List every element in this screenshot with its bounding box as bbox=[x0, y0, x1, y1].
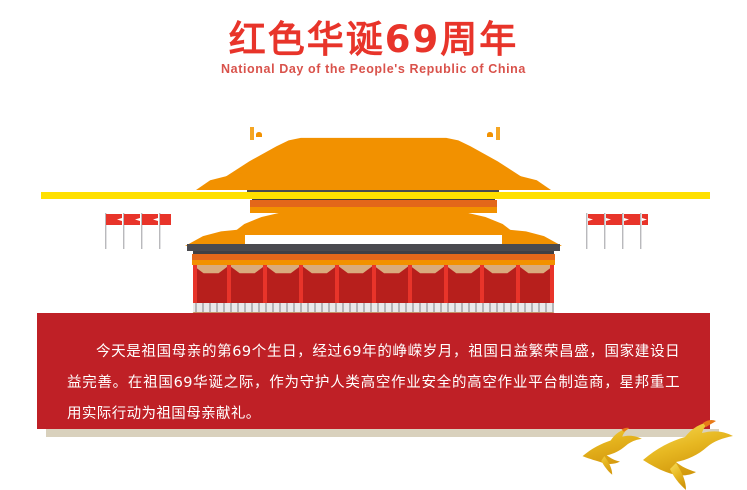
balustrade-post bbox=[202, 303, 204, 312]
gate-gallery bbox=[193, 265, 554, 303]
balustrade-post bbox=[230, 303, 232, 312]
balustrade-post bbox=[454, 303, 456, 312]
balustrade-post bbox=[489, 303, 491, 312]
balustrade-post bbox=[237, 303, 239, 312]
roof-finial-right-icon bbox=[496, 127, 500, 140]
balustrade-post bbox=[321, 303, 323, 312]
gallery-arch bbox=[302, 265, 336, 276]
dove-icon bbox=[583, 428, 642, 475]
gallery-column bbox=[193, 265, 197, 303]
balustrade-post bbox=[363, 303, 365, 312]
page-title: 红色华诞69周年 bbox=[0, 18, 747, 62]
roof-finial-left-tip-icon bbox=[256, 132, 262, 137]
golden-doves-ornament bbox=[575, 418, 747, 490]
gallery-arch bbox=[230, 265, 264, 276]
flag-icon bbox=[105, 213, 122, 249]
balustrade-post bbox=[314, 303, 316, 312]
national-day-poster: 红色华诞69周年 National Day of the People's Re… bbox=[0, 0, 747, 490]
balustrade-post bbox=[300, 303, 302, 312]
upper-cornice-strip bbox=[250, 200, 497, 207]
balustrade-post bbox=[391, 303, 393, 312]
balustrade-post bbox=[405, 303, 407, 312]
balustrade-post bbox=[328, 303, 330, 312]
balustrade-post bbox=[209, 303, 211, 312]
balustrade-post bbox=[447, 303, 449, 312]
roof-finial-right-tip-icon bbox=[487, 132, 493, 137]
gallery-column bbox=[444, 265, 448, 303]
flag-icon bbox=[604, 213, 622, 249]
message-panel: 今天是祖国母亲的第69个生日，经过69年的峥嵘岁月，祖国日益繁荣昌盛，国家建设日… bbox=[37, 313, 710, 429]
balustrade-post bbox=[349, 303, 351, 312]
gallery-arch bbox=[375, 265, 409, 276]
gallery-arch bbox=[519, 265, 553, 276]
flag-group-left bbox=[99, 209, 171, 249]
balustrade-post bbox=[223, 303, 225, 312]
balustrade-post bbox=[531, 303, 533, 312]
flag-icon bbox=[159, 213, 171, 249]
gallery-column bbox=[227, 265, 231, 303]
balustrade-post bbox=[307, 303, 309, 312]
gate-balustrade bbox=[193, 303, 554, 312]
balustrade-post bbox=[384, 303, 386, 312]
balustrade-post bbox=[503, 303, 505, 312]
balustrade-post bbox=[195, 303, 197, 312]
page-subtitle: National Day of the People's Republic of… bbox=[0, 62, 747, 76]
lower-roof bbox=[230, 213, 517, 235]
balustrade-post bbox=[440, 303, 442, 312]
flag-icon bbox=[141, 213, 158, 249]
flag-group-right bbox=[576, 209, 648, 249]
gallery-column bbox=[550, 265, 554, 303]
dove-icon bbox=[643, 420, 733, 490]
balustrade-post bbox=[468, 303, 470, 312]
balustrade-post bbox=[545, 303, 547, 312]
balustrade-post bbox=[279, 303, 281, 312]
balustrade-post bbox=[538, 303, 540, 312]
balustrade-post bbox=[412, 303, 414, 312]
balustrade-post bbox=[461, 303, 463, 312]
gallery-arch bbox=[266, 265, 300, 276]
balustrade-post bbox=[426, 303, 428, 312]
balustrade-post bbox=[475, 303, 477, 312]
balustrade-post bbox=[342, 303, 344, 312]
gallery-arch bbox=[447, 265, 481, 276]
balustrade-post bbox=[377, 303, 379, 312]
gallery-column bbox=[372, 265, 376, 303]
lower-roof-dark-band bbox=[187, 244, 560, 251]
flag-icon bbox=[640, 213, 648, 249]
message-body-text: 今天是祖国母亲的第69个生日，经过69年的峥嵘岁月，祖国日益繁荣昌盛，国家建设日… bbox=[67, 337, 680, 430]
balustrade-post bbox=[517, 303, 519, 312]
upper-roof-eave bbox=[196, 172, 551, 190]
balustrade-post bbox=[398, 303, 400, 312]
flag-icon bbox=[622, 213, 640, 249]
balustrade-post bbox=[552, 303, 554, 312]
gallery-column bbox=[516, 265, 520, 303]
balustrade-post bbox=[286, 303, 288, 312]
balustrade-post bbox=[251, 303, 253, 312]
balustrade-post bbox=[258, 303, 260, 312]
gallery-column bbox=[480, 265, 484, 303]
balustrade-post bbox=[272, 303, 274, 312]
gallery-arch bbox=[194, 265, 228, 276]
gallery-column bbox=[408, 265, 412, 303]
gallery-column bbox=[263, 265, 267, 303]
poster-header: 红色华诞69周年 National Day of the People's Re… bbox=[0, 0, 747, 96]
gallery-column bbox=[299, 265, 303, 303]
yellow-divider-line bbox=[41, 192, 710, 199]
roof-finial-left-icon bbox=[250, 127, 254, 140]
balustrade-post bbox=[335, 303, 337, 312]
upper-cornice-strip-lower bbox=[250, 207, 497, 213]
balustrade-post bbox=[216, 303, 218, 312]
balustrade-post bbox=[482, 303, 484, 312]
tiananmen-gate-illustration bbox=[0, 96, 747, 311]
balustrade-post bbox=[370, 303, 372, 312]
balustrade-post bbox=[510, 303, 512, 312]
balustrade-post bbox=[356, 303, 358, 312]
flag-icon bbox=[586, 213, 604, 249]
gallery-arch bbox=[483, 265, 517, 276]
balustrade-post bbox=[265, 303, 267, 312]
balustrade-post bbox=[293, 303, 295, 312]
balustrade-post bbox=[496, 303, 498, 312]
gallery-column bbox=[335, 265, 339, 303]
balustrade-post bbox=[433, 303, 435, 312]
balustrade-post bbox=[244, 303, 246, 312]
gallery-arch bbox=[338, 265, 372, 276]
balustrade-post bbox=[524, 303, 526, 312]
gallery-arch bbox=[411, 265, 445, 276]
flag-icon bbox=[123, 213, 140, 249]
balustrade-post bbox=[419, 303, 421, 312]
